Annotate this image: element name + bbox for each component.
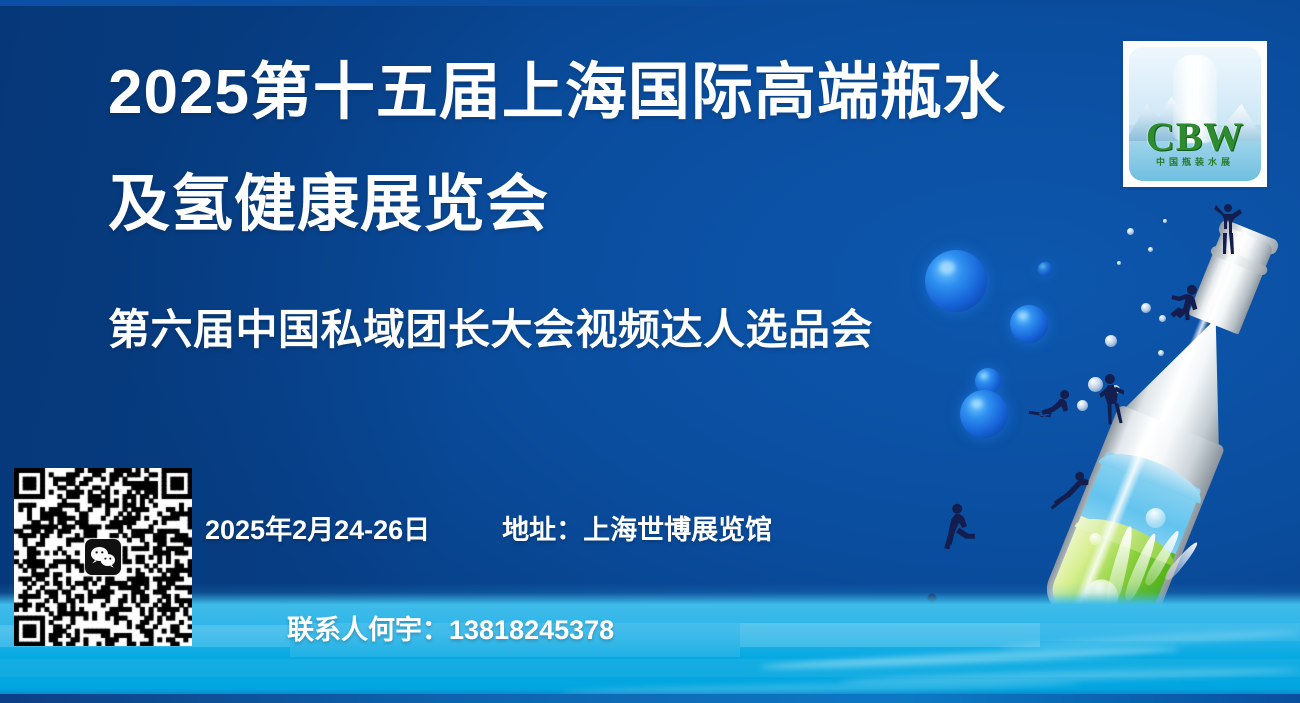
headline-line-1: 2025第十五届上海国际高端瓶水	[108, 60, 1006, 125]
droplet-3	[1117, 261, 1121, 265]
poster-canvas: 2025第十五届上海国际高端瓶水 及氢健康展览会 第六届中国私域团长大会视频达人…	[0, 0, 1300, 703]
figure-climbing-1	[1162, 280, 1207, 325]
logo-wordmark: CBW	[1129, 117, 1261, 157]
figure-running	[932, 499, 983, 555]
headline-line-2: 及氢健康展览会	[108, 172, 549, 237]
event-date: 2025年2月24-26日	[205, 508, 430, 547]
figure-walking-1	[1092, 371, 1129, 426]
droplet-7	[1105, 335, 1117, 347]
water-surface	[0, 583, 1300, 703]
droplet-2	[1148, 247, 1153, 252]
water-bottom-edge	[0, 694, 1300, 703]
figure-skier	[1027, 383, 1084, 424]
wechat-qr-code[interactable]	[14, 468, 192, 646]
contact-info: 联系人何宇：13818245378	[287, 608, 614, 647]
droplet-5	[1141, 303, 1151, 313]
background-top-edge	[0, 0, 1300, 6]
event-venue: 地址：上海世博展览馆	[502, 508, 772, 547]
cbw-logo-artwork: CBW 中国瓶装水展	[1129, 47, 1261, 181]
wechat-icon	[85, 539, 121, 575]
logo-caption: 中国瓶装水展	[1129, 155, 1261, 168]
subtitle: 第六届中国私域团长大会视频达人选品会	[108, 296, 873, 357]
wechat-glyph	[90, 546, 116, 568]
event-info-row: 2025年2月24-26日 地址：上海世博展览馆	[205, 508, 772, 547]
droplet-1	[1127, 228, 1134, 235]
cbw-logo: CBW 中国瓶装水展	[1120, 38, 1270, 190]
droplet-4	[1163, 219, 1167, 223]
droplet-11	[1158, 350, 1164, 356]
water-slab-3	[740, 623, 1040, 647]
figure-arms-raised	[1211, 203, 1245, 255]
